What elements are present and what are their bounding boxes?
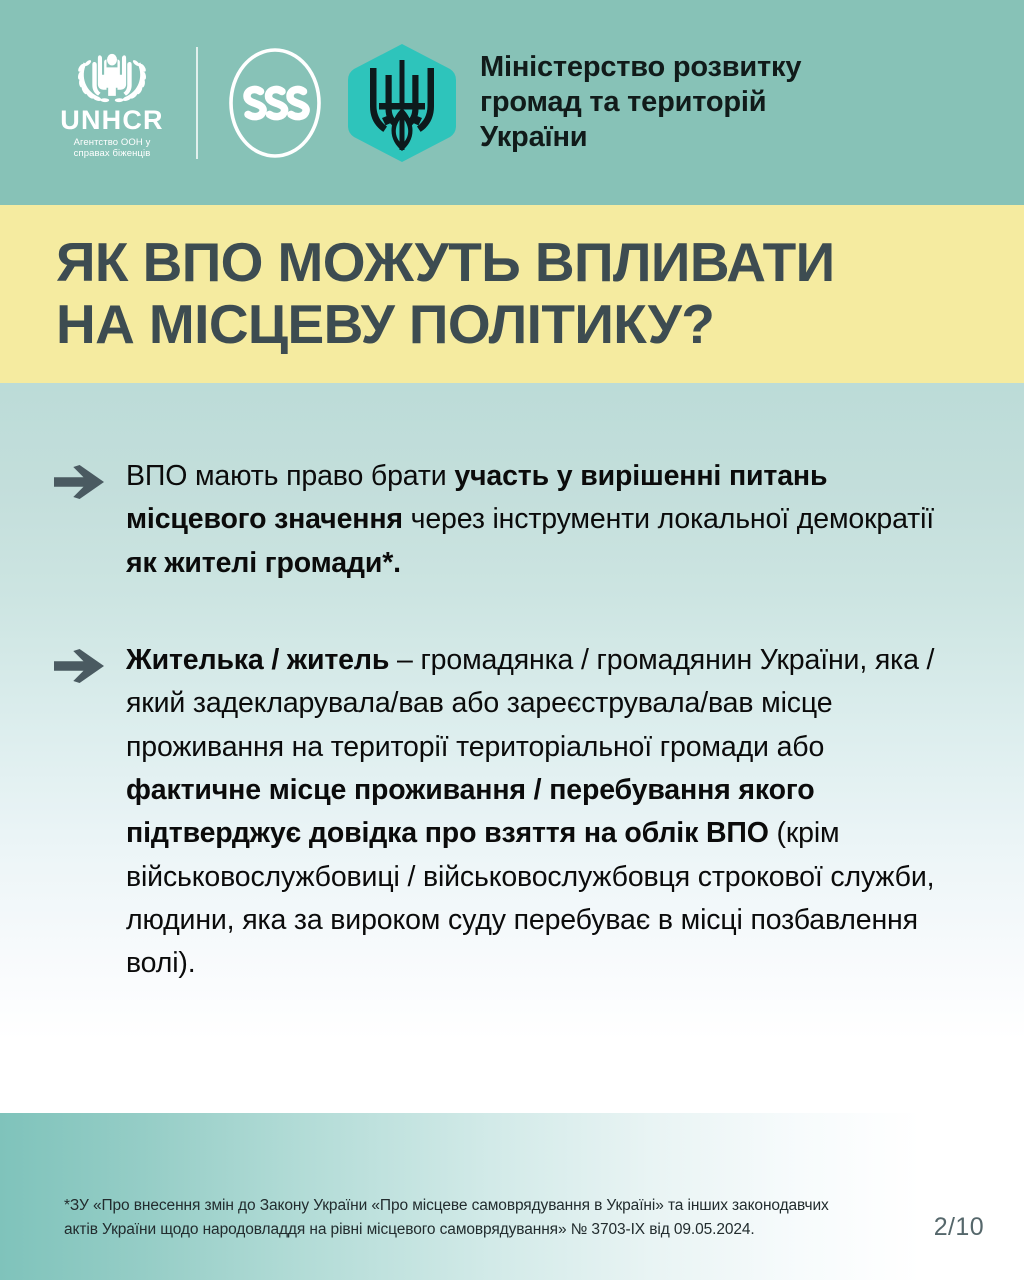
unhcr-hands-laurel-icon (64, 46, 160, 104)
page-title: ЯК ВПО МОЖУТЬ ВПЛИВАТИ НА МІСЦЕВУ ПОЛІТИ… (56, 232, 835, 355)
ministry-name-line1: Міністерство розвитку (480, 50, 801, 85)
page-header: UNHCR Агентство ООН у справах біженців (0, 0, 1024, 205)
arrow-right-icon (54, 465, 106, 499)
page-number: 2/10 (934, 1213, 984, 1242)
unhcr-subtitle: Агентство ООН у справах біженців (74, 137, 151, 159)
ukraine-trident-hexagon-icon (346, 42, 458, 164)
header-divider (196, 47, 198, 159)
ministry-name-line2: громад та територій (480, 85, 801, 120)
arrow-right-icon (54, 649, 106, 683)
title-banner: ЯК ВПО МОЖУТЬ ВПЛИВАТИ НА МІСЦЕВУ ПОЛІТИ… (0, 205, 1024, 383)
unhcr-logo: UNHCR Агентство ООН у справах біженців (52, 46, 172, 159)
bullet-text: Жителька / житель – громадянка / громадя… (126, 639, 956, 986)
unhcr-subtitle-line1: Агентство ООН у (74, 137, 151, 148)
infographic-page: UNHCR Агентство ООН у справах біженців (0, 0, 1024, 1280)
ministry-name: Міністерство розвитку громад та територі… (480, 50, 801, 154)
ministry-name-line3: України (480, 120, 801, 155)
bullet-item: ВПО мають право брати участь у вирішенні… (54, 455, 970, 585)
unhcr-wordmark: UNHCR (60, 107, 164, 134)
page-footer: *ЗУ «Про внесення змін до Закону України… (0, 1113, 1024, 1280)
page-title-line1: ЯК ВПО МОЖУТЬ ВПЛИВАТИ (56, 232, 835, 294)
bullet-item: Жителька / житель – громадянка / громадя… (54, 639, 970, 986)
bullet-text: ВПО мають право брати участь у вирішенні… (126, 455, 956, 585)
unhcr-subtitle-line2: справах біженців (74, 148, 151, 159)
content-area: ВПО мають право брати участь у вирішенні… (0, 383, 1024, 1113)
sss-circle-logo (226, 45, 324, 161)
page-title-line2: НА МІСЦЕВУ ПОЛІТИКУ? (56, 294, 835, 356)
footnote-text: *ЗУ «Про внесення змін до Закону України… (64, 1194, 854, 1242)
